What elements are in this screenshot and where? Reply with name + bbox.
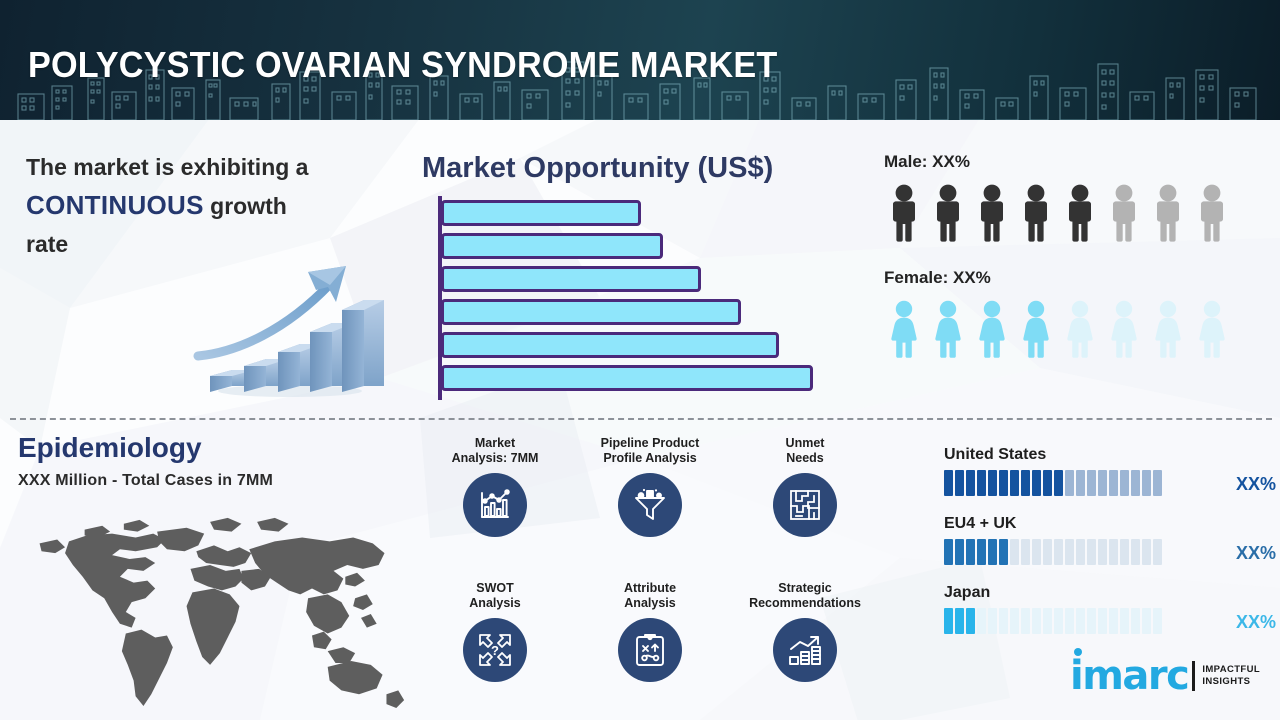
capability-label: Strategic Recommendations bbox=[725, 581, 885, 613]
segment-filled bbox=[944, 470, 953, 496]
segment-filled bbox=[944, 539, 953, 565]
country-row: United StatesXX% bbox=[944, 446, 1274, 496]
gender-split: Male: XX% Female: XX% bbox=[884, 152, 1274, 358]
country-share-chart: United StatesXX%EU4 + UKXX%JapanXX% bbox=[944, 446, 1274, 653]
capability-label: SWOT Analysis bbox=[415, 581, 575, 613]
maze-icon bbox=[773, 473, 837, 537]
segment-empty bbox=[1131, 470, 1140, 496]
segment-empty bbox=[1087, 470, 1096, 496]
growth-bar-chart-arrow-icon bbox=[190, 258, 390, 398]
statement-line-1: The market is exhibiting a bbox=[26, 148, 386, 186]
segment-filled bbox=[977, 470, 986, 496]
market-statement: The market is exhibiting a CONTINUOUS gr… bbox=[26, 148, 386, 263]
logo-tagline-line2: INSIGHTS bbox=[1202, 676, 1260, 688]
capability-pipeline-product[interactable]: Pipeline Product Profile Analysis bbox=[570, 436, 730, 537]
capability-label: Attribute Analysis bbox=[570, 581, 730, 613]
logo-tagline-line1: IMPACTFUL bbox=[1202, 664, 1260, 676]
male-person-icon bbox=[1060, 184, 1100, 242]
logo-dot bbox=[1074, 648, 1082, 656]
imarc-logo[interactable]: imarc IMPACTFUL INSIGHTS bbox=[1070, 650, 1266, 702]
segment-empty bbox=[1142, 539, 1151, 565]
country-segment-bar bbox=[944, 608, 1274, 634]
segment-empty bbox=[1087, 539, 1096, 565]
segment-empty bbox=[1120, 470, 1129, 496]
country-percent-label: XX% bbox=[1236, 474, 1276, 495]
segment-empty bbox=[1076, 539, 1085, 565]
country-row: EU4 + UKXX% bbox=[944, 515, 1274, 565]
infographic-root: POLYCYSTIC OVARIAN SYNDROME MARKET The m… bbox=[0, 0, 1280, 720]
country-row: JapanXX% bbox=[944, 584, 1274, 634]
segment-filled bbox=[966, 608, 975, 634]
capability-icon-grid: Market Analysis: 7MM Pipeline Product Pr… bbox=[415, 436, 885, 716]
epidemiology-title: Epidemiology bbox=[18, 432, 202, 464]
capability-swot-analysis[interactable]: SWOT Analysis ? bbox=[415, 581, 575, 682]
segment-empty bbox=[1021, 608, 1030, 634]
swot-arrows-question-icon: ? bbox=[463, 618, 527, 682]
segment-empty bbox=[1010, 608, 1019, 634]
segment-empty bbox=[1043, 539, 1052, 565]
female-icon-row bbox=[884, 296, 1274, 358]
segment-empty bbox=[1076, 608, 1085, 634]
section-divider bbox=[10, 418, 1272, 420]
world-map-icon bbox=[18, 508, 410, 714]
segment-filled bbox=[966, 539, 975, 565]
opportunity-bar bbox=[441, 299, 741, 325]
epidemiology-subtitle: XXX Million - Total Cases in 7MM bbox=[18, 472, 273, 490]
segment-filled bbox=[999, 470, 1008, 496]
male-person-icon bbox=[972, 184, 1012, 242]
segment-filled bbox=[944, 608, 953, 634]
segment-empty bbox=[1142, 608, 1151, 634]
market-opportunity-title: Market Opportunity (US$) bbox=[422, 152, 773, 185]
segment-empty bbox=[1120, 539, 1129, 565]
male-person-icon bbox=[1016, 184, 1056, 242]
segment-empty bbox=[1131, 539, 1140, 565]
segment-empty bbox=[977, 608, 986, 634]
segment-empty bbox=[1120, 608, 1129, 634]
country-segment-bar bbox=[944, 470, 1274, 496]
female-person-icon bbox=[1104, 300, 1144, 358]
male-person-icon bbox=[1148, 184, 1188, 242]
funnel-icon bbox=[618, 473, 682, 537]
opportunity-bar bbox=[441, 233, 663, 259]
segment-filled bbox=[1032, 470, 1041, 496]
segment-empty bbox=[1109, 608, 1118, 634]
segment-filled bbox=[1021, 470, 1030, 496]
statement-line-2-rest: growth bbox=[204, 193, 287, 219]
female-person-icon bbox=[928, 300, 968, 358]
male-person-icon bbox=[884, 184, 924, 242]
female-person-icon bbox=[884, 300, 924, 358]
country-percent-label: XX% bbox=[1236, 612, 1276, 633]
segment-empty bbox=[1065, 470, 1074, 496]
female-label: Female: XX% bbox=[884, 268, 1274, 288]
segment-empty bbox=[1142, 470, 1151, 496]
segment-empty bbox=[1109, 539, 1118, 565]
segment-empty bbox=[1032, 539, 1041, 565]
segment-empty bbox=[1153, 470, 1162, 496]
segment-empty bbox=[1087, 608, 1096, 634]
capability-attribute-analysis[interactable]: Attribute Analysis bbox=[570, 581, 730, 682]
segment-empty bbox=[1109, 470, 1118, 496]
market-opportunity-chart bbox=[438, 196, 838, 400]
female-person-icon bbox=[1148, 300, 1188, 358]
segment-empty bbox=[988, 608, 997, 634]
segment-filled bbox=[988, 539, 997, 565]
segment-filled bbox=[955, 539, 964, 565]
segment-empty bbox=[1098, 608, 1107, 634]
segment-filled bbox=[955, 470, 964, 496]
segment-empty bbox=[1065, 608, 1074, 634]
female-person-icon bbox=[1192, 300, 1232, 358]
segment-empty bbox=[1021, 539, 1030, 565]
segment-filled bbox=[1043, 470, 1052, 496]
capability-strategic-recommendations[interactable]: Strategic Recommendations bbox=[725, 581, 885, 682]
segment-empty bbox=[1043, 608, 1052, 634]
male-person-icon bbox=[1192, 184, 1232, 242]
country-name: EU4 + UK bbox=[944, 515, 1274, 533]
opportunity-bar bbox=[441, 266, 701, 292]
svg-text:?: ? bbox=[491, 643, 499, 658]
segment-empty bbox=[1131, 608, 1140, 634]
segment-filled bbox=[999, 539, 1008, 565]
female-person-icon bbox=[1016, 300, 1056, 358]
female-person-icon bbox=[1060, 300, 1100, 358]
country-segment-bar bbox=[944, 539, 1274, 565]
country-name: United States bbox=[944, 446, 1274, 464]
page-title: POLYCYSTIC OVARIAN SYNDROME MARKET bbox=[28, 44, 777, 86]
opportunity-bar bbox=[441, 365, 813, 391]
segment-empty bbox=[1032, 608, 1041, 634]
segment-empty bbox=[1153, 608, 1162, 634]
segment-empty bbox=[1076, 470, 1085, 496]
logo-divider bbox=[1192, 661, 1195, 691]
capability-unmet-needs[interactable]: Unmet Needs bbox=[725, 436, 885, 537]
segment-empty bbox=[1065, 539, 1074, 565]
segment-filled bbox=[966, 470, 975, 496]
logo-wordmark: imarc bbox=[1070, 656, 1188, 696]
segment-filled bbox=[1054, 470, 1063, 496]
statement-line-2: CONTINUOUS growth bbox=[26, 186, 386, 225]
male-person-icon bbox=[928, 184, 968, 242]
segment-filled bbox=[988, 470, 997, 496]
clipboard-strategy-icon bbox=[618, 618, 682, 682]
statement-highlight: CONTINUOUS bbox=[26, 190, 204, 220]
segment-filled bbox=[977, 539, 986, 565]
male-icon-row bbox=[884, 180, 1274, 242]
segment-empty bbox=[1054, 539, 1063, 565]
opportunity-bar bbox=[441, 332, 779, 358]
capability-market-analysis[interactable]: Market Analysis: 7MM bbox=[415, 436, 575, 537]
header-banner: POLYCYSTIC OVARIAN SYNDROME MARKET bbox=[0, 0, 1280, 120]
male-label: Male: XX% bbox=[884, 152, 1274, 172]
growth-arrow-bars-icon bbox=[773, 618, 837, 682]
opportunity-bar bbox=[441, 200, 641, 226]
country-percent-label: XX% bbox=[1236, 543, 1276, 564]
bar-chart-line-icon bbox=[463, 473, 527, 537]
country-name: Japan bbox=[944, 584, 1274, 602]
female-person-icon bbox=[972, 300, 1012, 358]
capability-label: Pipeline Product Profile Analysis bbox=[570, 436, 730, 468]
segment-empty bbox=[1098, 470, 1107, 496]
capability-label: Market Analysis: 7MM bbox=[415, 436, 575, 468]
segment-empty bbox=[1098, 539, 1107, 565]
segment-empty bbox=[1010, 539, 1019, 565]
segment-filled bbox=[955, 608, 964, 634]
male-person-icon bbox=[1104, 184, 1144, 242]
segment-filled bbox=[1010, 470, 1019, 496]
capability-label: Unmet Needs bbox=[725, 436, 885, 468]
segment-empty bbox=[1054, 608, 1063, 634]
segment-empty bbox=[999, 608, 1008, 634]
segment-empty bbox=[1153, 539, 1162, 565]
